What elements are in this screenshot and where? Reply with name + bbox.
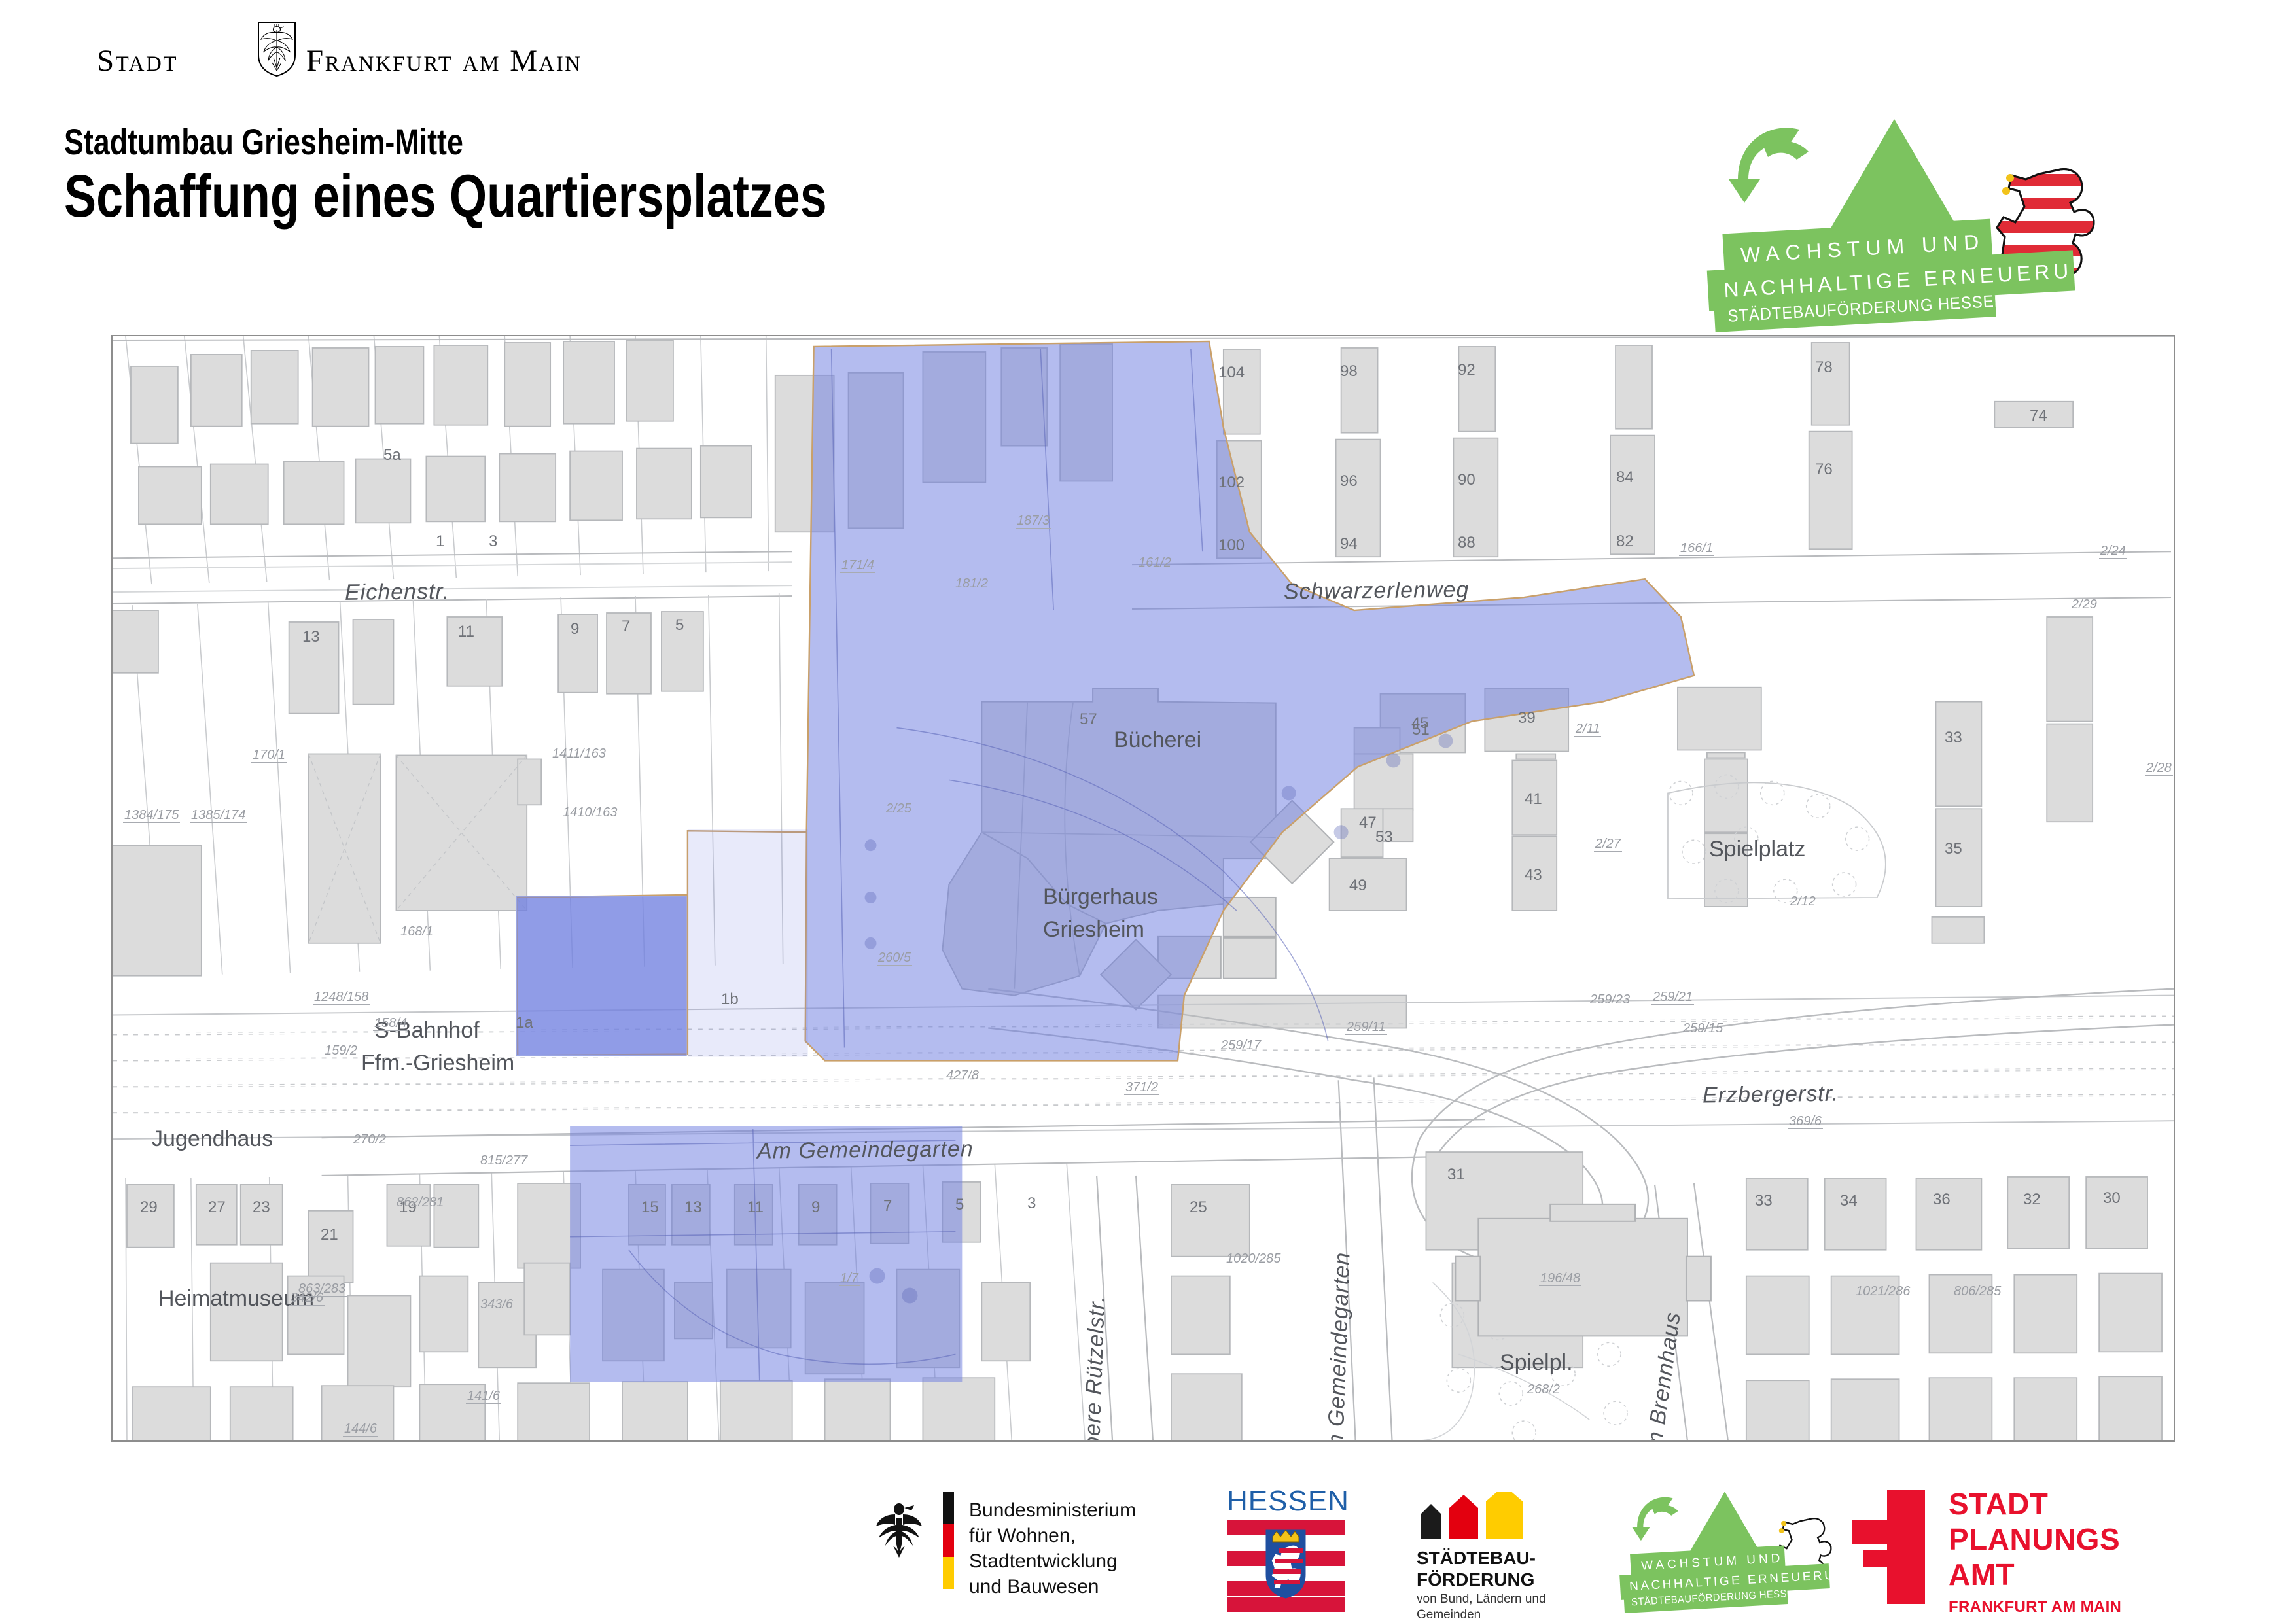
three-houses-icon bbox=[1417, 1492, 1534, 1539]
bmwsb-line2: für Wohnen, Stadtentwicklung bbox=[969, 1523, 1181, 1574]
house-number: 9 bbox=[811, 1198, 820, 1217]
house-number: 92 bbox=[1458, 361, 1475, 379]
parcel-numerator: 1384/175 bbox=[123, 809, 180, 823]
parcel-number: 862/281 bbox=[395, 1196, 445, 1210]
parcel-number: 159/2 bbox=[323, 1044, 359, 1058]
bundesadler-eagle-icon bbox=[874, 1499, 925, 1559]
page-subtitle: Stadtumbau Griesheim-Mitte bbox=[64, 120, 463, 163]
parcel-numerator: 187/3 bbox=[1016, 514, 1051, 529]
parcel-numerator: 181/2 bbox=[954, 577, 989, 591]
planungsamt-line4: FRANKFURT AM MAIN bbox=[1949, 1598, 2121, 1616]
parcel-number: 343/6 bbox=[479, 1298, 514, 1312]
parcel-number: 259/11 bbox=[1345, 1021, 1387, 1035]
parcel-number: 168/1 bbox=[399, 925, 434, 939]
house-number: 33 bbox=[1755, 1192, 1773, 1210]
house-number: 74 bbox=[2030, 407, 2047, 425]
house-number: 29 bbox=[140, 1198, 158, 1217]
parcel-numerator: 161/2 bbox=[1137, 556, 1173, 570]
parcel-numerator: 141/6 bbox=[466, 1389, 501, 1404]
house-number: 25 bbox=[1190, 1198, 1207, 1217]
parcel-number: 259/23 bbox=[1589, 993, 1631, 1007]
parcel-number: 806/285 bbox=[1952, 1285, 2002, 1299]
parcel-number: 1248/158 bbox=[313, 990, 370, 1005]
house-number: 39 bbox=[1518, 709, 1536, 727]
parcel-numerator: 1021/286 bbox=[1854, 1285, 1911, 1299]
parcel-number: 187/3 bbox=[1016, 514, 1051, 529]
parcel-number: 1/7 bbox=[839, 1272, 860, 1286]
bmwsb-line3: und Bauwesen bbox=[969, 1574, 1181, 1599]
parcel-number: 141/6 bbox=[466, 1389, 501, 1404]
parcel-numerator: 369/6 bbox=[1788, 1115, 1823, 1129]
parcel-number: 259/17 bbox=[1220, 1039, 1262, 1053]
program-logo-footer: WACHSTUM UND NACHHALTIGE ERNEUERUNG STÄD… bbox=[1623, 1490, 1884, 1607]
house-number: 1 bbox=[436, 532, 444, 551]
staedtebaufoerderung-logo: STÄDTEBAU- FÖRDERUNG von Bund, Ländern u… bbox=[1417, 1492, 1600, 1607]
house-number: 34 bbox=[1840, 1192, 1858, 1210]
parcel-number: 161/2 bbox=[1137, 556, 1173, 570]
parcel-number: 2/25 bbox=[885, 802, 913, 816]
parcel-number: 181/2 bbox=[954, 577, 989, 591]
parcel-numerator: 1410/163 bbox=[561, 806, 618, 820]
parcel-numerator: 1248/158 bbox=[313, 990, 370, 1005]
parcel-numerator: 806/285 bbox=[1952, 1285, 2002, 1299]
parcel-numerator: 862/281 bbox=[395, 1196, 445, 1210]
german-flag-bar-icon bbox=[943, 1492, 954, 1589]
parcel-numerator: 2/25 bbox=[885, 802, 913, 816]
hessen-wordmark: HESSEN bbox=[1227, 1487, 1345, 1516]
house-number: 47 bbox=[1359, 814, 1377, 832]
program-logo-header: WACHSTUM UND NACHHALTIGE ERNEUERUNG STÄD… bbox=[1714, 118, 2172, 327]
parcel-number: 170/1 bbox=[251, 748, 287, 763]
house-number: 88 bbox=[1458, 534, 1475, 552]
stadtplanungsamt-logo: STADT PLANUNGS AMT FRANKFURT AM MAIN bbox=[1852, 1487, 2192, 1611]
parcel-numerator: 863/283 bbox=[297, 1282, 347, 1297]
parcel-number: 259/21 bbox=[1651, 990, 1694, 1005]
house-number: 33 bbox=[1945, 729, 1962, 747]
house-number: 23 bbox=[253, 1198, 270, 1217]
house-number: 7 bbox=[883, 1197, 892, 1215]
house-number: 11 bbox=[747, 1198, 764, 1217]
parcel-number: 863/283 bbox=[297, 1282, 347, 1297]
house-number: 5 bbox=[675, 616, 684, 635]
parcel-numerator: 170/1 bbox=[251, 748, 287, 763]
house-number: 7 bbox=[622, 618, 630, 636]
house-number: 51 bbox=[1412, 721, 1430, 739]
parcel-numerator: 259/21 bbox=[1651, 990, 1694, 1005]
parcel-numerator: 1020/285 bbox=[1225, 1252, 1282, 1266]
planungsamt-line2: PLANUNGS bbox=[1949, 1522, 2121, 1558]
parcel-number: 427/8 bbox=[945, 1069, 980, 1083]
house-number: 32 bbox=[2023, 1191, 2041, 1209]
house-number: 5 bbox=[955, 1196, 964, 1214]
parcel-number: 1020/285 bbox=[1225, 1252, 1282, 1266]
house-number: 84 bbox=[1616, 468, 1634, 487]
house-number: 96 bbox=[1340, 472, 1358, 491]
house-number: 102 bbox=[1218, 474, 1245, 492]
parcel-numerator: 259/17 bbox=[1220, 1039, 1262, 1053]
parcel-number: 158/4 bbox=[373, 1017, 408, 1031]
parcel-number: 1385/174 bbox=[190, 809, 247, 823]
house-number: 57 bbox=[1080, 710, 1097, 729]
parcel-numerator: 268/2 bbox=[1526, 1383, 1561, 1397]
house-number: 3 bbox=[489, 532, 497, 551]
stadtplanungsamt-text: STADT PLANUNGS AMT FRANKFURT AM MAIN bbox=[1949, 1487, 2121, 1616]
parcel-number: 270/2 bbox=[352, 1133, 387, 1147]
house-number: 30 bbox=[2103, 1189, 2121, 1208]
staedtebau-line2: FÖRDERUNG bbox=[1417, 1569, 1536, 1590]
bmwsb-logo: Bundesministerium für Wohnen, Stadtentwi… bbox=[874, 1490, 1181, 1601]
house-number: 15 bbox=[641, 1198, 659, 1217]
house-number: 13 bbox=[684, 1198, 702, 1217]
hessen-flag-shield-icon bbox=[1227, 1520, 1345, 1612]
house-number: 90 bbox=[1458, 471, 1475, 489]
house-number: 36 bbox=[1933, 1191, 1951, 1209]
house-number: 35 bbox=[1945, 840, 1962, 858]
parcel-numerator: 2/28 bbox=[2145, 761, 2173, 776]
house-number: 1a bbox=[516, 1014, 533, 1032]
house-number: 82 bbox=[1616, 532, 1634, 551]
staedtebau-line1: STÄDTEBAU- bbox=[1417, 1547, 1536, 1569]
staedtebau-line4: Gemeinden bbox=[1417, 1607, 1546, 1623]
cadastral-map[interactable]: Eichenstr. Schwarzerlenweg Erzbergerstr.… bbox=[111, 335, 2175, 1442]
parcel-numerator: 2/29 bbox=[2070, 598, 2098, 612]
page-title: Schaffung eines Quartiersplatzes bbox=[64, 162, 827, 231]
parcel-numerator: 2/24 bbox=[2099, 544, 2127, 559]
frankfurt-eagle-crest-icon bbox=[256, 21, 297, 77]
bmwsb-line1: Bundesministerium bbox=[969, 1497, 1181, 1523]
house-number: 104 bbox=[1218, 364, 1245, 382]
house-number: 13 bbox=[302, 628, 320, 646]
house-number: 31 bbox=[1447, 1166, 1465, 1184]
house-number: 43 bbox=[1525, 866, 1542, 884]
parcel-number: 260/5 bbox=[877, 951, 912, 966]
city-logo-word-left: Stadt bbox=[97, 43, 178, 79]
parcel-number: 171/4 bbox=[840, 559, 875, 573]
bmwsb-text: Bundesministerium für Wohnen, Stadtentwi… bbox=[969, 1497, 1181, 1599]
parcel-numerator: 144/6 bbox=[343, 1422, 378, 1437]
parcel-numerator: 2/12 bbox=[1789, 895, 1817, 909]
staedtebau-line3: von Bund, Ländern und bbox=[1417, 1592, 1546, 1607]
parcel-numerator: 171/4 bbox=[840, 559, 875, 573]
house-number: 100 bbox=[1218, 536, 1245, 555]
house-number: 98 bbox=[1340, 362, 1358, 381]
parcel-number: 1410/163 bbox=[561, 806, 618, 820]
house-number: 94 bbox=[1340, 535, 1358, 553]
parcel-number: 369/6 bbox=[1788, 1115, 1823, 1129]
parcel-number: 2/12 bbox=[1789, 895, 1817, 909]
parcel-numerator: 259/11 bbox=[1345, 1021, 1387, 1035]
parcel-number: 371/2 bbox=[1124, 1081, 1159, 1095]
house-number: 41 bbox=[1525, 790, 1542, 809]
parcel-numerator: 158/4 bbox=[373, 1017, 408, 1031]
parcel-numerator: 259/15 bbox=[1682, 1022, 1724, 1036]
parcel-number: 196/48 bbox=[1539, 1272, 1581, 1286]
parcel-numerator: 1411/163 bbox=[551, 747, 607, 761]
parcel-number: 1021/286 bbox=[1854, 1285, 1911, 1299]
parcel-numerator: 159/2 bbox=[323, 1044, 359, 1058]
city-of-frankfurt-logo: Stadt Frankfu bbox=[97, 31, 516, 79]
parcel-numerator: 166/1 bbox=[1679, 542, 1714, 556]
parcel-number: 144/6 bbox=[343, 1422, 378, 1437]
page-header: Stadt Frankfu bbox=[0, 0, 2296, 327]
parcel-numerator: 168/1 bbox=[399, 925, 434, 939]
parcel-numerator: 1/7 bbox=[839, 1272, 860, 1286]
parcel-number: 166/1 bbox=[1679, 542, 1714, 556]
parcel-numerator: 343/6 bbox=[479, 1298, 514, 1312]
staedtebau-subtitle: von Bund, Ländern und Gemeinden bbox=[1417, 1592, 1546, 1623]
map-drawing bbox=[113, 336, 2174, 1440]
parcel-numerator: 196/48 bbox=[1539, 1272, 1581, 1286]
parcel-numerator: 427/8 bbox=[945, 1069, 980, 1083]
parcel-numerator: 371/2 bbox=[1124, 1081, 1159, 1095]
parcel-number: 2/24 bbox=[2099, 544, 2127, 559]
parcel-number: 2/11 bbox=[1574, 722, 1601, 737]
house-number: 21 bbox=[321, 1226, 338, 1244]
parcel-number: 2/27 bbox=[1594, 837, 1622, 852]
house-number: 5a bbox=[383, 446, 401, 464]
parcel-numerator: 2/11 bbox=[1574, 722, 1601, 737]
parcel-numerator: 259/23 bbox=[1589, 993, 1631, 1007]
planungsamt-line3: AMT bbox=[1949, 1558, 2121, 1593]
staedtebau-title: STÄDTEBAU- FÖRDERUNG bbox=[1417, 1547, 1536, 1590]
house-number: 78 bbox=[1815, 358, 1833, 377]
planungsamt-line1: STADT bbox=[1949, 1487, 2121, 1522]
house-number: 27 bbox=[208, 1198, 226, 1217]
house-number: 9 bbox=[571, 620, 579, 638]
parcel-numerator: 260/5 bbox=[877, 951, 912, 966]
house-number: 11 bbox=[458, 623, 474, 641]
house-number: 49 bbox=[1349, 877, 1367, 895]
parcel-numerator: 270/2 bbox=[352, 1133, 387, 1147]
parcel-numerator: 1385/174 bbox=[190, 809, 247, 823]
parcel-number: 2/28 bbox=[2145, 761, 2173, 776]
city-logo-word-right: Frankfurt am Main bbox=[306, 43, 582, 79]
parcel-number: 1384/175 bbox=[123, 809, 180, 823]
house-number: 1b bbox=[721, 990, 739, 1009]
parcel-number: 815/277 bbox=[479, 1154, 529, 1168]
parcel-number: 268/2 bbox=[1526, 1383, 1561, 1397]
hessen-logo: HESSEN bbox=[1227, 1487, 1345, 1609]
funding-logo-strip: Bundesministerium für Wohnen, Stadtentwi… bbox=[0, 1475, 2296, 1622]
parcel-number: 2/29 bbox=[2070, 598, 2098, 612]
parcel-number: 259/15 bbox=[1682, 1022, 1724, 1036]
house-number: 3 bbox=[1027, 1195, 1036, 1213]
house-number: 76 bbox=[1815, 461, 1833, 479]
stadtplanungsamt-mark-icon bbox=[1852, 1490, 1925, 1604]
parcel-numerator: 815/277 bbox=[479, 1154, 529, 1168]
parcel-number: 1411/163 bbox=[551, 747, 607, 761]
parcel-numerator: 2/27 bbox=[1594, 837, 1622, 852]
house-number: 53 bbox=[1375, 828, 1393, 846]
